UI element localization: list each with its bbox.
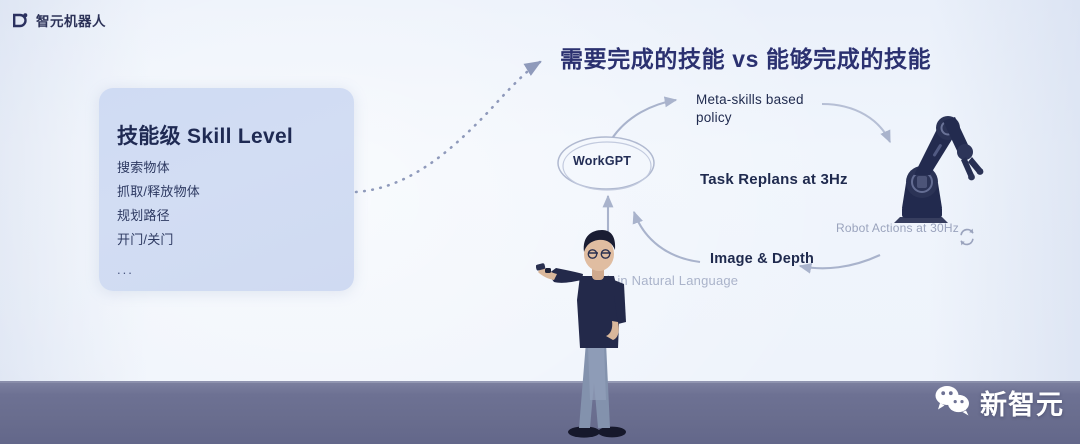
list-item: 规划路径 [117, 204, 200, 228]
label-robot-actions: Robot Actions at 30Hz [836, 220, 959, 236]
list-item-ellipsis: ... [117, 252, 200, 282]
stage-scene: 智元机器人 技能级 Skill Level 搜索物体 抓取/释放物体 规划路径 … [0, 0, 1080, 444]
list-item: 搜索物体 [117, 156, 200, 180]
wechat-icon [934, 384, 972, 421]
skill-level-card: 技能级 Skill Level 搜索物体 抓取/释放物体 规划路径 开门/关门 … [99, 88, 354, 291]
watermark-text: 新智元 [980, 383, 1064, 422]
label-task-replans: Task Replans at 3Hz [700, 171, 848, 188]
presenter-person [536, 222, 656, 438]
label-workgpt: WorkGPT [573, 154, 631, 168]
slide-headline: 需要完成的技能 vs 能够完成的技能 [560, 40, 931, 74]
label-meta-skills-policy: Meta-skills based policy [696, 91, 816, 127]
brand-logo: 智元机器人 [12, 10, 106, 30]
robotic-arm-icon [886, 105, 992, 228]
list-item: 开门/关门 [117, 228, 200, 252]
watermark: 新智元 [934, 383, 1064, 422]
refresh-cycle-icon [957, 226, 977, 253]
list-item: 抓取/释放物体 [117, 180, 200, 204]
label-image-depth: Image & Depth [710, 250, 814, 269]
skill-card-title: 技能级 Skill Level [117, 120, 293, 150]
d-mark-logo-icon [12, 12, 29, 29]
skill-list: 搜索物体 抓取/释放物体 规划路径 开门/关门 ... [117, 156, 200, 282]
brand-name: 智元机器人 [36, 10, 106, 30]
